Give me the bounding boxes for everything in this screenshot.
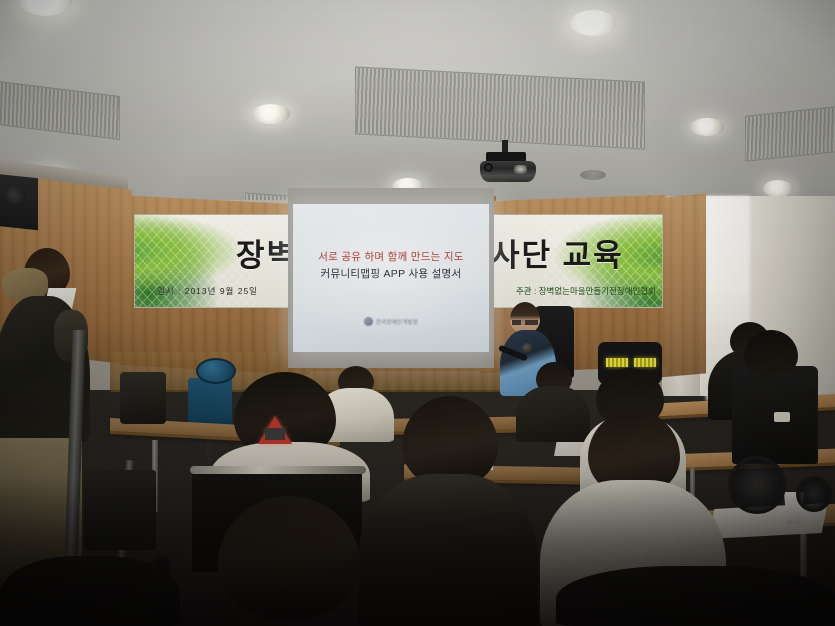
- wheelchair-push-handle: [190, 466, 366, 474]
- wall-speaker: [0, 174, 38, 230]
- ceiling-projector: [480, 148, 536, 184]
- equipment-case: [84, 470, 156, 550]
- ceiling-downlight: [690, 118, 724, 136]
- foreground-head: [218, 496, 360, 620]
- backpack-buckle-icon: [774, 412, 790, 422]
- foreground-torso: [556, 566, 835, 626]
- equipment-stand: [120, 372, 166, 424]
- wheelchair-warning-triangle-reflector: [258, 416, 292, 444]
- ceiling-downlight: [763, 180, 793, 197]
- presenter-microphone-head-icon: [522, 343, 533, 354]
- headrest-reflective-strip: [634, 358, 656, 367]
- projection-screen: 서로 공유 하며 함께 만드는 지도 커뮤니티맵핑 APP 사용 설명서 한국장…: [293, 204, 489, 352]
- foreground-audience-bottom-right: [556, 566, 835, 626]
- power-wheelchair-user: [718, 330, 835, 530]
- projector-knob: [484, 163, 493, 172]
- power-wheelchair-user-head: [744, 330, 798, 378]
- event-banner-right: 사단 교육 주관 : 장벽없는마을만들기전장애인협회: [488, 214, 663, 308]
- foreground-audience-left: [188, 496, 408, 626]
- slide-organization-logo: 한국장애인개발원: [293, 317, 489, 326]
- event-banner-left: 장벽 일시 : 2013년 9월 25일: [134, 214, 304, 308]
- slide-headline-1: 서로 공유 하며 함께 만드는 지도: [293, 249, 489, 264]
- speaker-cone-icon: [4, 185, 26, 209]
- foreground-torso: [0, 556, 180, 626]
- slide-headline-2: 커뮤니티맵핑 APP 사용 설명서: [293, 266, 489, 281]
- banner-right-title: 사단 교육: [491, 240, 624, 271]
- ceiling-fixture-hole: [580, 170, 606, 180]
- headrest-reflective-strip: [606, 358, 628, 367]
- banner-left-subtitle: 일시 : 2013년 9월 25일: [157, 285, 258, 297]
- power-wheelchair-wheel: [796, 476, 832, 512]
- foreground-audience-far-left: [0, 556, 180, 626]
- slide-logo-text: 한국장애인개발원: [376, 318, 418, 326]
- power-wheelchair-backpack: [742, 386, 816, 464]
- presenter-glasses-icon: [512, 320, 538, 325]
- ceiling-downlight: [252, 104, 290, 124]
- projector-body: [480, 161, 536, 182]
- logo-mark-icon: [364, 317, 373, 326]
- ceiling-downlight: [570, 10, 616, 36]
- photo-scene: 장벽 일시 : 2013년 9월 25일 사단 교육 주관 : 장벽없는마을만들…: [0, 0, 835, 626]
- power-wheelchair-wheel: [728, 456, 786, 514]
- projector-lens: [514, 165, 527, 174]
